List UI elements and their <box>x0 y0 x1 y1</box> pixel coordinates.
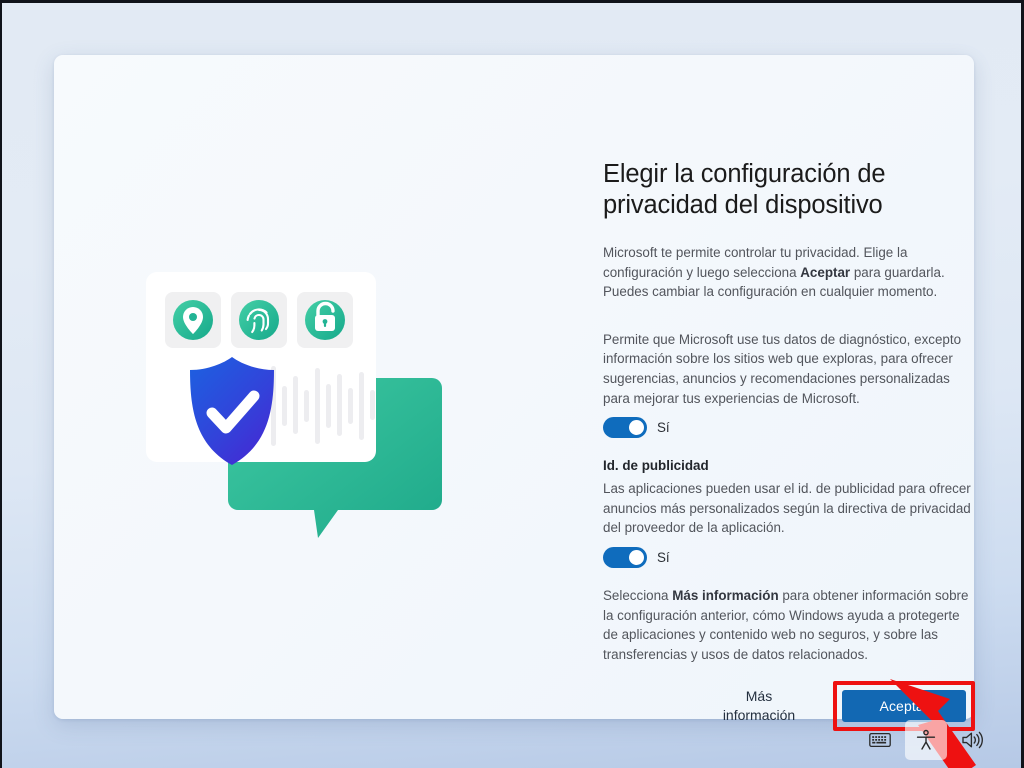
footer-text-before: Selecciona <box>603 588 672 603</box>
accept-button[interactable]: Aceptar <box>842 690 966 722</box>
unlocked-padlock-icon <box>305 300 345 340</box>
setup-card: Elegir la configuración de privacidad de… <box>54 55 974 719</box>
setting-advertising-id: Id. de publicidad Las aplicaciones puede… <box>603 456 975 568</box>
more-info-button[interactable]: Más información <box>705 680 813 732</box>
fingerprint-icon <box>239 300 279 340</box>
illustration-icon-tiles <box>165 292 353 348</box>
page-title: Elegir la configuración de privacidad de… <box>603 159 975 221</box>
setting-diagnostic-toggle-row: Sí <box>603 417 975 438</box>
volume-button[interactable] <box>951 720 993 760</box>
accessibility-button[interactable] <box>905 720 947 760</box>
volume-icon <box>961 730 983 750</box>
location-pin-icon <box>173 300 213 340</box>
setting-advertising-id-toggle-row: Sí <box>603 547 975 568</box>
keyboard-button[interactable] <box>859 720 901 760</box>
setting-diagnostic-toggle[interactable] <box>603 417 647 438</box>
setting-advertising-id-toggle[interactable] <box>603 547 647 568</box>
setting-advertising-id-toggle-label: Sí <box>657 548 670 567</box>
footer-paragraph: Selecciona Más información para obtener … <box>603 586 975 664</box>
privacy-settings-content: Elegir la configuración de privacidad de… <box>603 159 975 664</box>
footer-text-bold: Más información <box>672 588 778 603</box>
setting-diagnostic-data: Permite que Microsoft use tus datos de d… <box>603 330 975 438</box>
oobe-tray <box>859 720 993 760</box>
accessibility-icon <box>915 729 937 751</box>
setting-advertising-id-heading: Id. de publicidad <box>603 456 975 475</box>
intro-text-bold: Aceptar <box>800 265 850 280</box>
oobe-screen: Elegir la configuración de privacidad de… <box>0 0 1024 768</box>
setting-advertising-id-description: Las aplicaciones pueden usar el id. de p… <box>603 479 975 538</box>
setting-diagnostic-description: Permite que Microsoft use tus datos de d… <box>603 330 975 408</box>
toggle-knob <box>629 550 644 565</box>
privacy-shield-illustration <box>120 260 540 570</box>
toggle-knob <box>629 420 644 435</box>
keyboard-icon <box>869 732 891 748</box>
setting-diagnostic-toggle-label: Sí <box>657 418 670 437</box>
intro-paragraph: Microsoft te permite controlar tu privac… <box>603 243 975 302</box>
